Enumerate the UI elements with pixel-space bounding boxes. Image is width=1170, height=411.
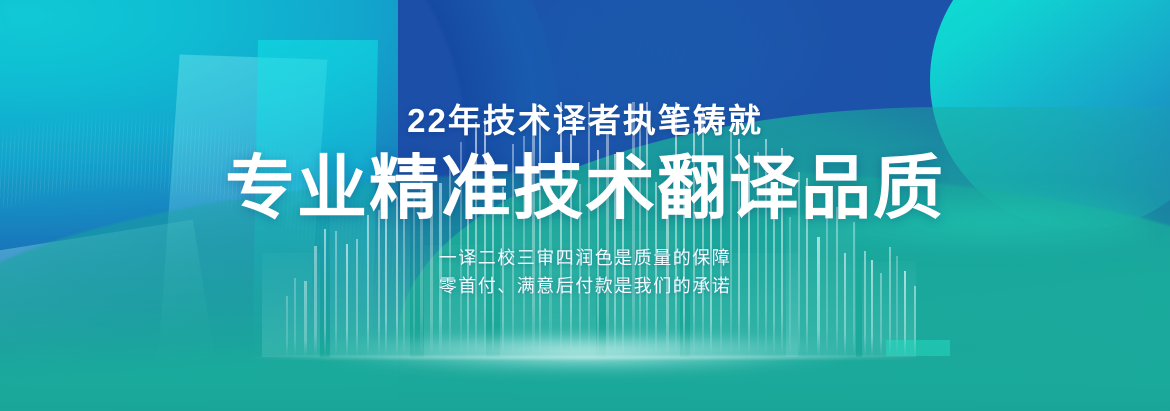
banner-tagline-2: 零首付、满意后付款是我们的承诺 (439, 273, 732, 301)
banner-taglines: 一译二校三审四润色是质量的保障 零首付、满意后付款是我们的承诺 (439, 245, 732, 301)
hero-banner: 22年技术译者执笔铸就 专业精准技术翻译品质 一译二校三审四润色是质量的保障 零… (0, 0, 1170, 411)
banner-text-stack: 22年技术译者执笔铸就 专业精准技术翻译品质 一译二校三审四润色是质量的保障 零… (0, 0, 1170, 411)
banner-eyebrow: 22年技术译者执笔铸就 (407, 104, 763, 137)
banner-headline: 专业精准技术翻译品质 (225, 153, 945, 223)
banner-tagline-1: 一译二校三审四润色是质量的保障 (439, 245, 732, 273)
